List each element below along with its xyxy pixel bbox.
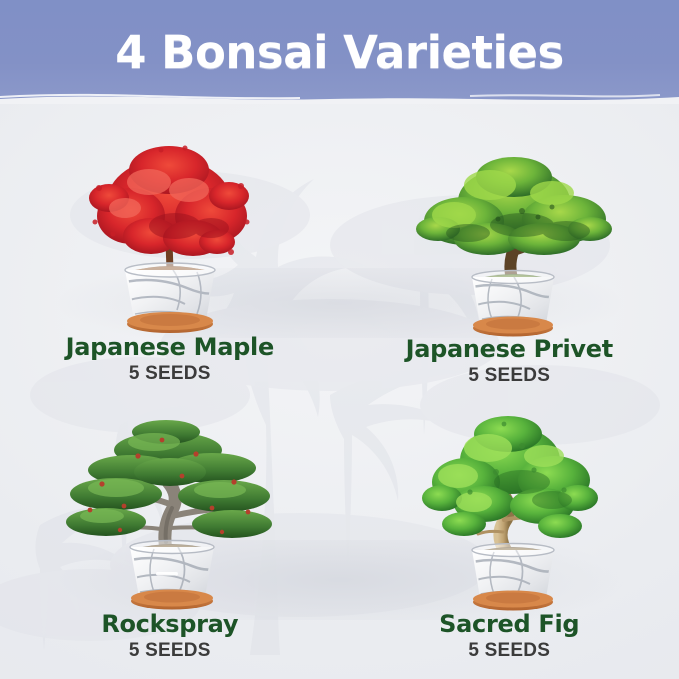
variety-card-japanese-privet[interactable]: Japanese Privet 5 SEEDS: [340, 104, 679, 392]
variety-caption: Japanese Maple 5 SEEDS: [0, 335, 340, 392]
page-title: 4 Bonsai Varieties: [0, 0, 679, 104]
variety-card-sacred-fig[interactable]: Sacred Fig 5 SEEDS: [340, 392, 679, 679]
bonsai-varieties-poster: 4 Bonsai Varieties: [0, 0, 679, 679]
bonsai-rockspray-icon: [0, 392, 340, 613]
variety-caption: Japanese Privet 5 SEEDS: [340, 337, 679, 392]
variety-quantity: 5 SEEDS: [340, 639, 679, 663]
header-banner: 4 Bonsai Varieties: [0, 0, 679, 104]
bonsai-privet-icon: [340, 104, 679, 337]
variety-caption: Sacred Fig 5 SEEDS: [340, 612, 679, 679]
variety-name: Sacred Fig: [340, 612, 679, 637]
variety-quantity: 5 SEEDS: [0, 362, 340, 386]
variety-quantity: 5 SEEDS: [0, 639, 340, 663]
variety-caption: Rockspray 5 SEEDS: [0, 612, 340, 679]
variety-name: Japanese Privet: [340, 337, 679, 362]
variety-name: Japanese Maple: [0, 335, 340, 360]
bonsai-sacred-fig-icon: [340, 392, 679, 613]
variety-card-japanese-maple[interactable]: Japanese Maple 5 SEEDS: [0, 104, 340, 392]
variety-name: Rockspray: [0, 612, 340, 637]
variety-quantity: 5 SEEDS: [340, 364, 679, 388]
variety-card-rockspray[interactable]: Rockspray 5 SEEDS: [0, 392, 340, 679]
bonsai-maple-icon: [0, 104, 340, 335]
varieties-grid: Japanese Maple 5 SEEDS: [0, 104, 679, 679]
